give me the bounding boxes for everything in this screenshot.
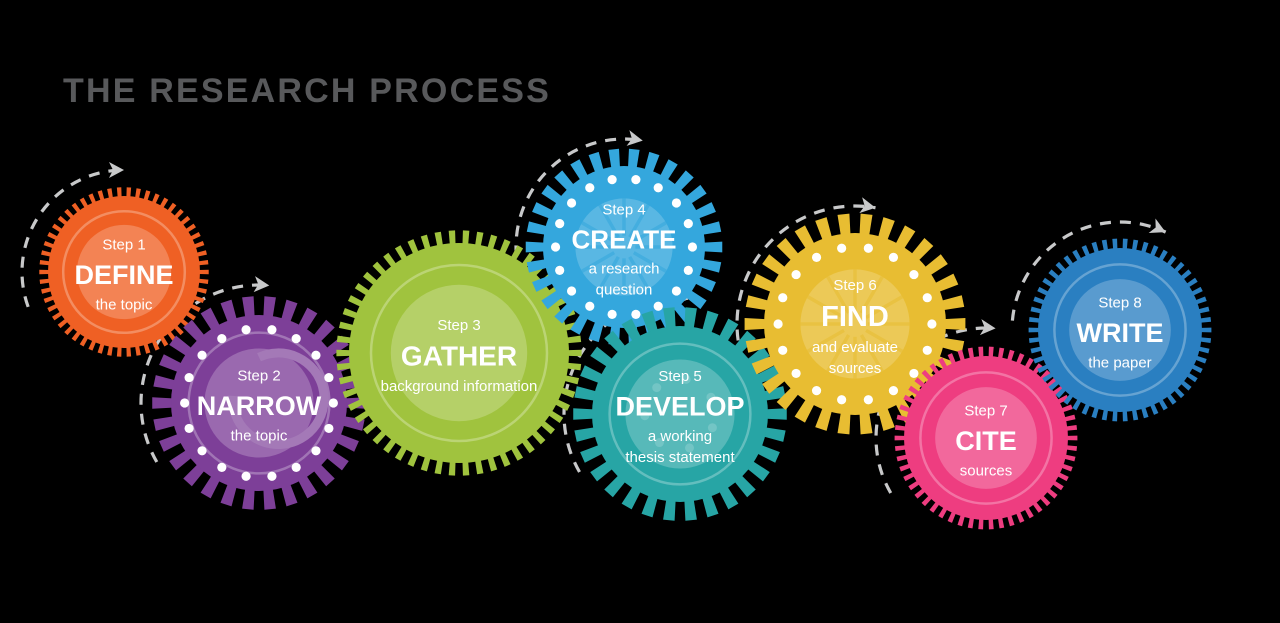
gear-bolt-dot (812, 253, 821, 262)
gear-step-verb: GATHER (401, 340, 517, 371)
gear-step-5[interactable]: Step 5DEVELOPa workingthesis statement (573, 307, 787, 521)
gear-bolt-dot (684, 219, 693, 228)
gear-step-description-line: thesis statement (625, 449, 735, 466)
gear-bolt-dot (585, 302, 594, 311)
gear-bolt-dot (267, 472, 276, 481)
gear-bolt-dot (923, 346, 932, 355)
gear-bolt-dot (555, 219, 564, 228)
gear-bolt-dot (324, 424, 333, 433)
infographic-canvas: THE RESEARCH PROCESS Step 1DEFINEthe top… (0, 0, 1280, 623)
gear-bolt-dot (864, 244, 873, 253)
gear-bolt-dot (555, 266, 564, 275)
gear-bolt-dot (292, 334, 301, 343)
gear-step-description-line: the topic (96, 296, 153, 313)
gear-step-description-line: and evaluate (812, 339, 898, 356)
gear-bolt-dot (927, 319, 936, 328)
gear-bolt-dot (774, 319, 783, 328)
gear-bolt-dot (684, 266, 693, 275)
gear-bolt-dot (778, 293, 787, 302)
gear-bolt-dot (567, 198, 576, 207)
gear-bolt-dot (688, 242, 697, 251)
gear-step-number: Step 8 (1098, 294, 1141, 311)
gear-bolt-dot (631, 310, 640, 319)
gear-step-verb: CITE (955, 426, 1017, 456)
gear-bolt-dot (672, 286, 681, 295)
gears-layer: Step 1DEFINEthe topicStep 2NARROWthe top… (39, 149, 1211, 530)
gear-step-number: Step 4 (602, 201, 645, 218)
gear-step-description-line: the topic (231, 427, 288, 444)
gear-bolt-dot (864, 395, 873, 404)
gear-bolt-dot (791, 270, 800, 279)
gear-step-description-line: a research (589, 260, 660, 277)
gear-step-2[interactable]: Step 2NARROWthe topic (152, 296, 366, 510)
gear-bolt-dot (217, 463, 226, 472)
gear-bolt-dot (791, 369, 800, 378)
gear-bolt-dot (812, 386, 821, 395)
gear-bolt-dot (672, 198, 681, 207)
gear-step-number: Step 2 (237, 367, 280, 384)
gear-step-verb: DEFINE (74, 260, 173, 290)
gear-step-number: Step 7 (964, 402, 1007, 419)
gear-step-number: Step 3 (437, 317, 480, 334)
gear-step-description-line: background information (381, 378, 538, 395)
gear-bolt-dot (608, 175, 617, 184)
gear-step-description-line: question (596, 281, 653, 298)
gear-step-description-line: the paper (1088, 354, 1151, 371)
gear-bolt-dot (778, 346, 787, 355)
gear-bolt-dot (654, 302, 663, 311)
gear-step-number: Step 1 (102, 236, 145, 253)
gear-bolt-dot (608, 310, 617, 319)
gear-bolt-dot (585, 183, 594, 192)
gear-bolt-dot (185, 373, 194, 382)
gear-step-description-line: sources (960, 462, 1013, 479)
gear-bolt-dot (180, 398, 189, 407)
gear-bolt-dot (197, 446, 206, 455)
gear-bolt-dot (909, 270, 918, 279)
gear-bolt-dot (217, 334, 226, 343)
gear-step-verb: FIND (821, 301, 889, 333)
gear-bolt-dot (654, 183, 663, 192)
gear-step-verb: NARROW (197, 391, 322, 421)
gear-step-description-line: a working (648, 428, 712, 445)
gear-bolt-dot (241, 472, 250, 481)
gear-bolt-dot (292, 463, 301, 472)
gear-step-number: Step 5 (658, 368, 701, 385)
gear-bolt-dot (329, 398, 338, 407)
gear-step-description-line: sources (829, 360, 882, 377)
research-process-gear-diagram: Step 1DEFINEthe topicStep 2NARROWthe top… (0, 0, 1280, 623)
gear-bolt-dot (241, 325, 250, 334)
gear-bolt-dot (197, 351, 206, 360)
gear-bolt-dot (185, 424, 194, 433)
gear-bolt-dot (551, 242, 560, 251)
gear-step-verb: CREATE (572, 224, 677, 254)
gear-step-verb: WRITE (1077, 318, 1164, 348)
gear-bolt-dot (837, 244, 846, 253)
gear-bolt-dot (631, 175, 640, 184)
gear-bolt-dot (311, 446, 320, 455)
gear-bolt-dot (311, 351, 320, 360)
process-arrowhead-8 (1149, 219, 1169, 240)
gear-bolt-dot (837, 395, 846, 404)
gear-bolt-dot (923, 293, 932, 302)
gear-bolt-dot (889, 253, 898, 262)
gear-step-number: Step 6 (833, 277, 876, 294)
gear-bolt-dot (567, 286, 576, 295)
gear-step-verb: DEVELOP (615, 392, 744, 422)
gear-bolt-dot (324, 373, 333, 382)
gear-bolt-dot (889, 386, 898, 395)
gear-step-1[interactable]: Step 1DEFINEthe topic (39, 187, 208, 356)
gear-bolt-dot (267, 325, 276, 334)
gear-bolt-dot (909, 369, 918, 378)
